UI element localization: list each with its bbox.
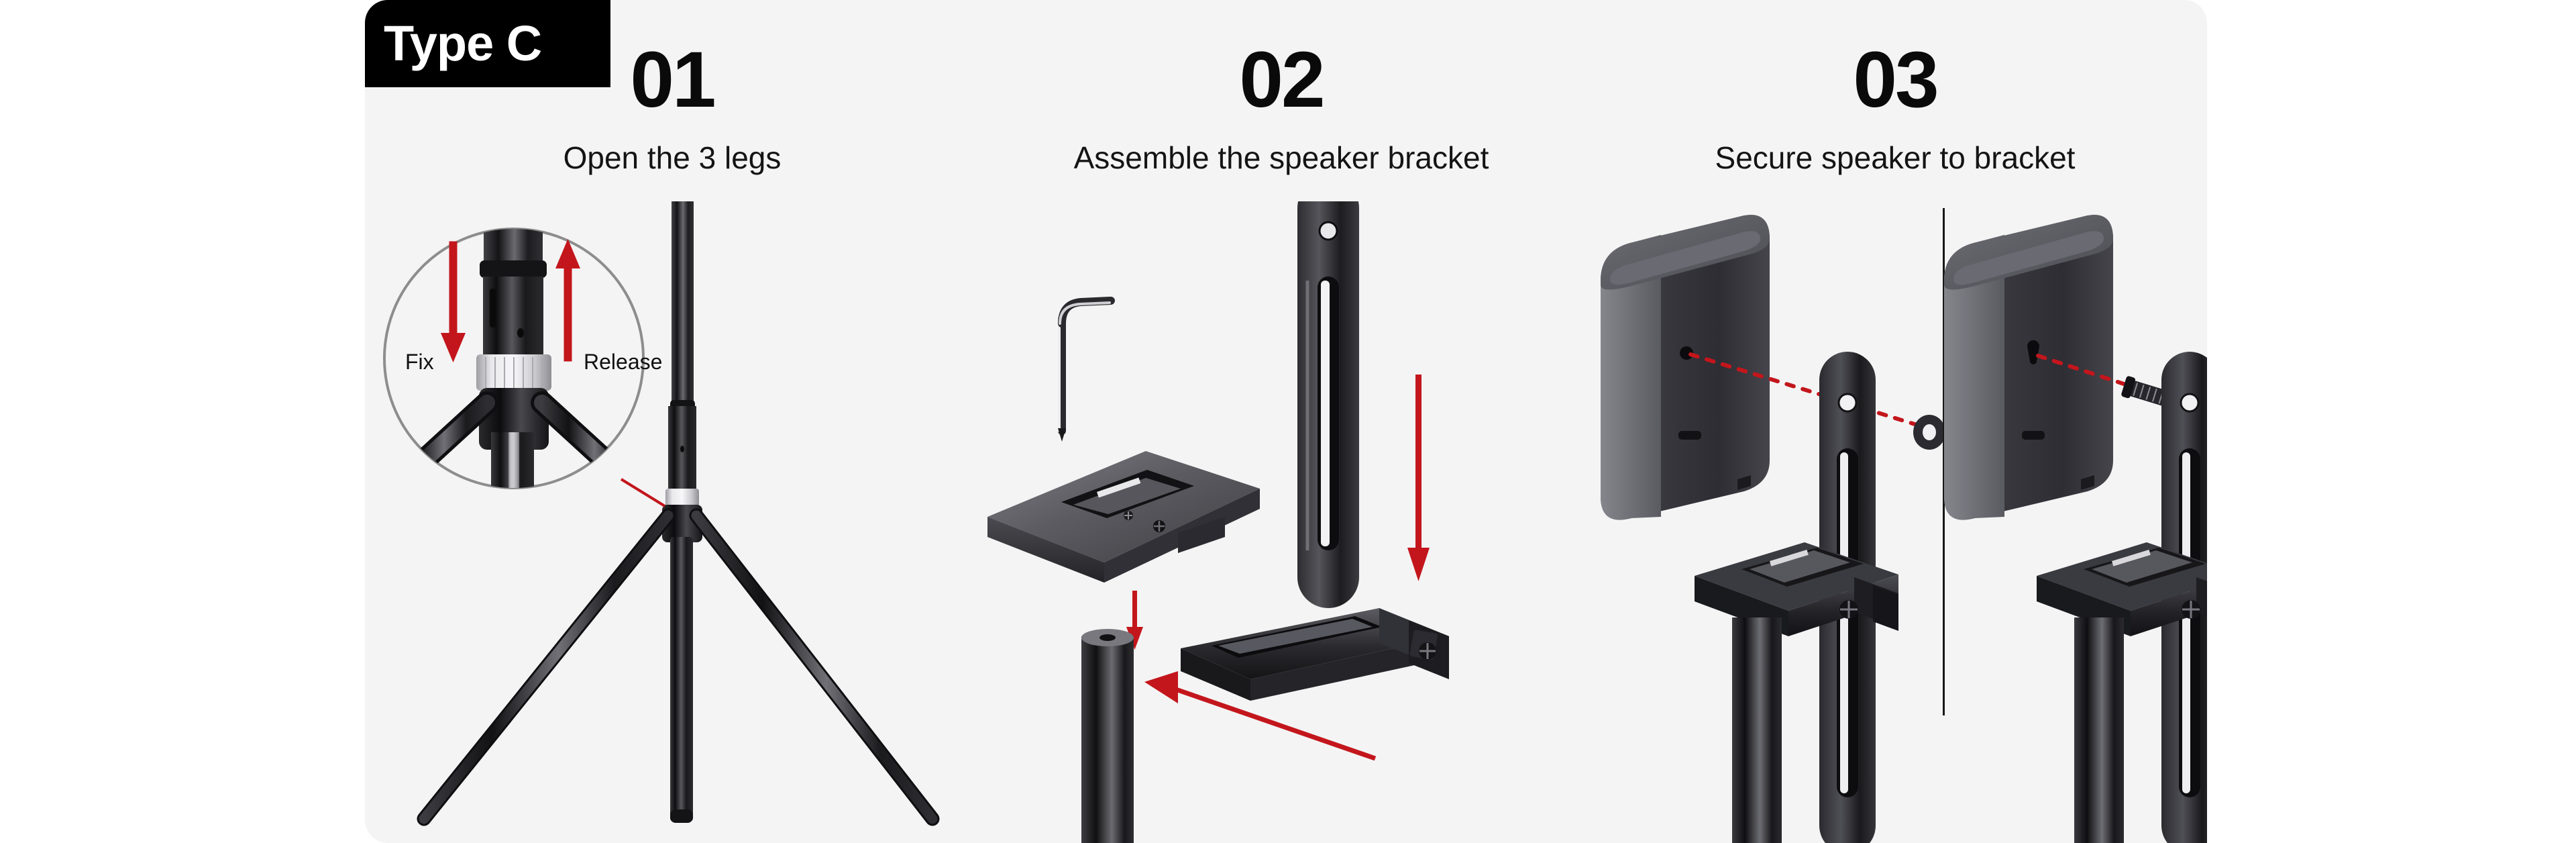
- step-03-number: 03: [1583, 40, 2207, 119]
- step-03: 03 Secure speaker to bracket: [1583, 0, 2207, 843]
- step-02-number: 02: [979, 40, 1583, 119]
- step-03-illustration: [1583, 201, 2207, 843]
- fix-label-text: Fix: [405, 350, 434, 374]
- step-01-illustration: Fix Release: [365, 201, 979, 843]
- steps-row: 01 Open the 3 legs: [365, 0, 2207, 843]
- instruction-sheet: Type C 01 Open the 3 legs: [0, 0, 2576, 843]
- step-02: 02 Assemble the speaker bracket: [979, 0, 1583, 843]
- step-01-head: 01 Open the 3 legs: [365, 40, 979, 173]
- step-01-number: 01: [365, 40, 979, 119]
- step-02-head: 02 Assemble the speaker bracket: [979, 40, 1583, 173]
- step-03-title: Secure speaker to bracket: [1583, 142, 2207, 173]
- step-01-title: Open the 3 legs: [365, 142, 979, 173]
- step-02-illustration: [979, 201, 1583, 843]
- release-label-text: Release: [584, 350, 662, 374]
- step-01: 01 Open the 3 legs: [365, 0, 979, 843]
- step-03-head: 03 Secure speaker to bracket: [1583, 40, 2207, 173]
- step-02-title: Assemble the speaker bracket: [979, 142, 1583, 173]
